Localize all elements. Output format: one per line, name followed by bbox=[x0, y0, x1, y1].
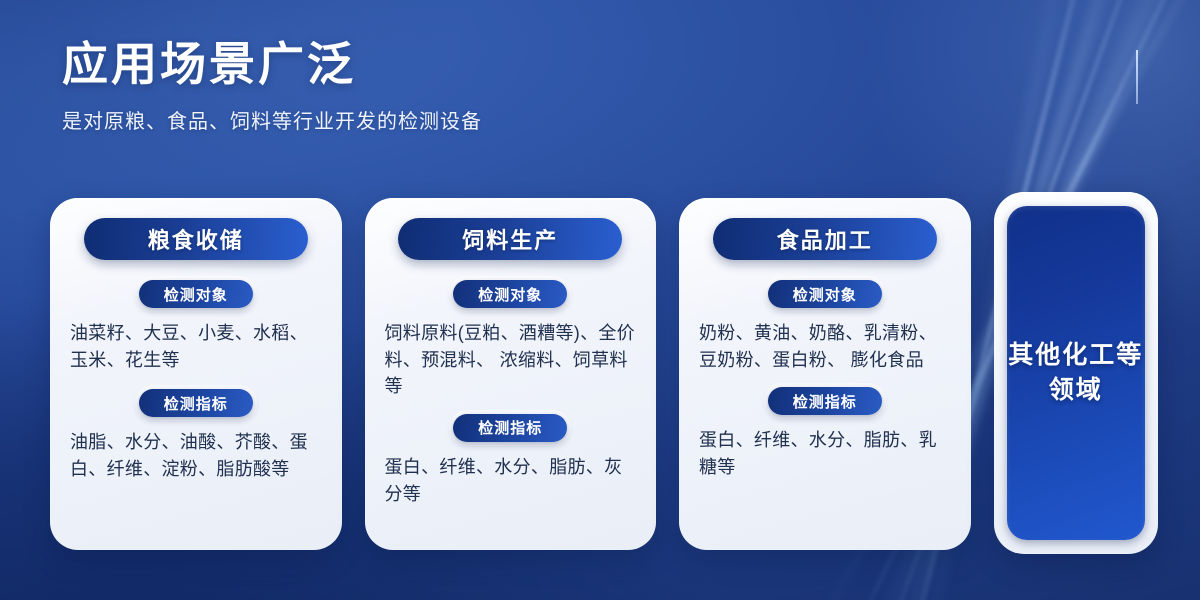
detection-index-tag: 检测指标 bbox=[768, 387, 882, 415]
accent-card-label: 其他化工等领域 bbox=[1007, 338, 1145, 409]
card-title: 粮食收储 bbox=[148, 223, 244, 255]
page-title: 应用场景广泛 bbox=[62, 38, 482, 91]
detection-index-tag: 检测指标 bbox=[453, 414, 567, 442]
card-title-pill: 食品加工 bbox=[713, 218, 937, 260]
detection-object-text: 奶粉、黄油、奶酪、乳清粉、豆奶粉、蛋白粉、 膨化食品 bbox=[697, 320, 953, 373]
detection-object-tag-label: 检测对象 bbox=[478, 284, 542, 305]
card-title-pill: 饲料生产 bbox=[398, 218, 622, 260]
detection-object-text: 饲料原料(豆粕、酒糟等)、全价料、预混料、 浓缩料、饲草料等 bbox=[383, 320, 639, 400]
detection-index-text: 蛋白、纤维、水分、脂肪、灰分等 bbox=[383, 454, 639, 507]
detection-object-tag-label: 检测对象 bbox=[793, 284, 857, 305]
accent-card-surface: 其他化工等领域 bbox=[1007, 206, 1145, 540]
scenario-card-food-processing[interactable]: 食品加工 检测对象 奶粉、黄油、奶酪、乳清粉、豆奶粉、蛋白粉、 膨化食品 检测指… bbox=[679, 198, 971, 550]
scenario-card-list: 粮食收储 检测对象 油菜籽、大豆、小麦、水稻、玉米、花生等 检测指标 油脂、水分… bbox=[50, 198, 1158, 553]
detection-object-tag: 检测对象 bbox=[768, 280, 882, 308]
detection-index-tag: 检测指标 bbox=[139, 389, 253, 417]
scenario-card-feed-production[interactable]: 饲料生产 检测对象 饲料原料(豆粕、酒糟等)、全价料、预混料、 浓缩料、饲草料等… bbox=[365, 198, 657, 550]
scenario-card-other-chemical[interactable]: 其他化工等领域 bbox=[994, 192, 1158, 554]
detection-index-text: 油脂、水分、油酸、芥酸、蛋白、纤维、淀粉、脂肪酸等 bbox=[68, 429, 324, 482]
header-divider-rule bbox=[1136, 50, 1138, 104]
card-title: 食品加工 bbox=[777, 223, 873, 255]
card-title: 饲料生产 bbox=[462, 223, 558, 255]
page-header: 应用场景广泛 是对原粮、食品、饲料等行业开发的检测设备 bbox=[62, 38, 482, 134]
detection-object-tag: 检测对象 bbox=[453, 280, 567, 308]
detection-index-tag-label: 检测指标 bbox=[793, 391, 857, 412]
detection-index-text: 蛋白、纤维、水分、脂肪、乳糖等 bbox=[697, 427, 953, 480]
detection-index-tag-label: 检测指标 bbox=[164, 393, 228, 414]
detection-object-tag-label: 检测对象 bbox=[164, 284, 228, 305]
page-subtitle: 是对原粮、食品、饲料等行业开发的检测设备 bbox=[62, 105, 482, 134]
detection-object-tag: 检测对象 bbox=[139, 280, 253, 308]
detection-index-tag-label: 检测指标 bbox=[478, 417, 542, 438]
card-title-pill: 粮食收储 bbox=[84, 218, 308, 260]
scenario-card-grain-storage[interactable]: 粮食收储 检测对象 油菜籽、大豆、小麦、水稻、玉米、花生等 检测指标 油脂、水分… bbox=[50, 198, 342, 550]
detection-object-text: 油菜籽、大豆、小麦、水稻、玉米、花生等 bbox=[68, 320, 324, 373]
